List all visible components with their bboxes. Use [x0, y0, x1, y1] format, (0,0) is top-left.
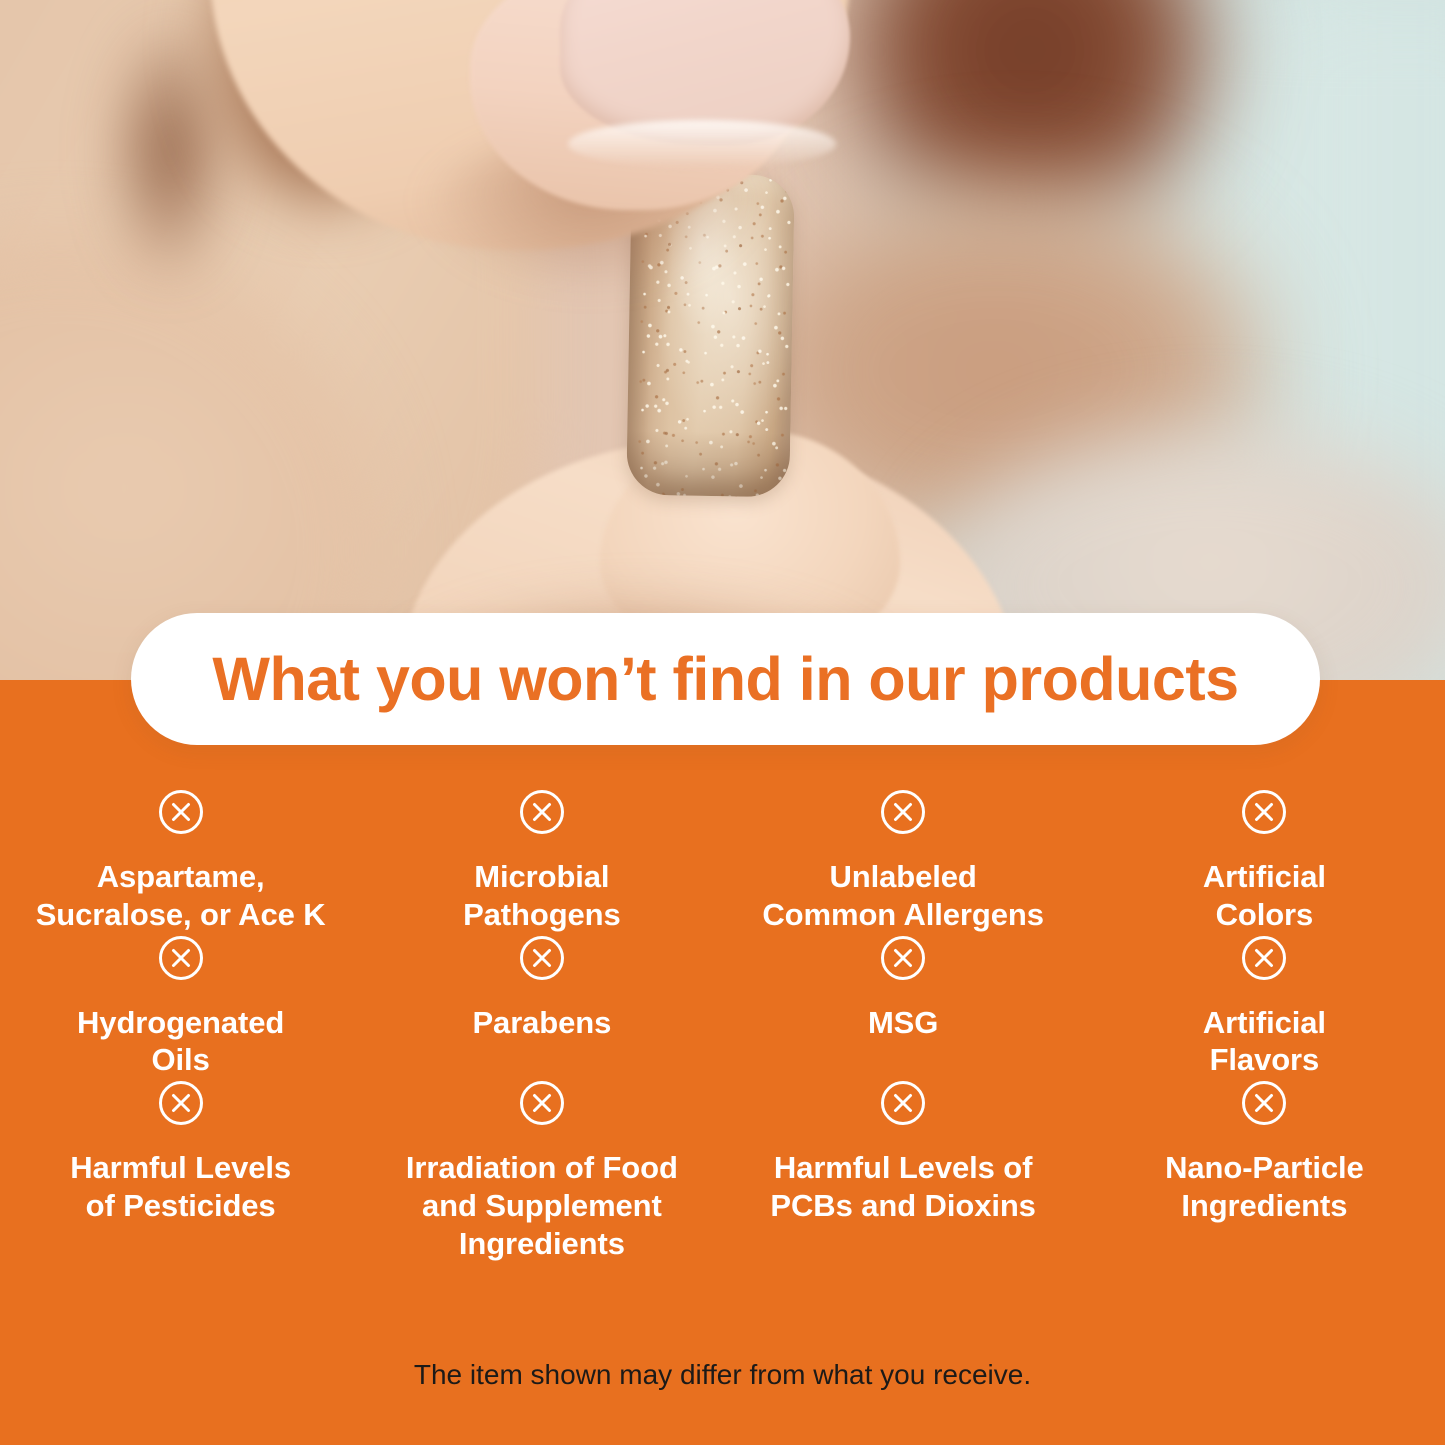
x-circle-icon: [1240, 1079, 1288, 1127]
x-circle-icon: [157, 934, 205, 982]
grid-item: MicrobialPathogens: [361, 788, 722, 934]
headline-card: What you won’t find in our products: [131, 613, 1320, 745]
headline-text-after: find in our products: [656, 645, 1239, 713]
x-circle-icon: [879, 788, 927, 836]
grid-item: Harmful Levelsof Pesticides: [0, 1079, 361, 1262]
disclaimer-text: The item shown may differ from what you …: [414, 1358, 1031, 1392]
product-photo: [0, 0, 1445, 700]
grid-item-label: MSG: [868, 1004, 938, 1042]
headline-text-emphasis: won’t: [499, 645, 656, 713]
grid-item-label: ArtificialFlavors: [1203, 1004, 1326, 1080]
grid-item-label: ArtificialColors: [1203, 858, 1326, 934]
x-circle-icon: [879, 934, 927, 982]
thumbnail-edge: [568, 120, 836, 168]
grid-item: ArtificialColors: [1084, 788, 1445, 934]
x-circle-icon: [518, 788, 566, 836]
grid-item: Irradiation of Foodand SupplementIngredi…: [361, 1079, 722, 1262]
grid-item: UnlabeledCommon Allergens: [723, 788, 1084, 934]
x-circle-icon: [518, 934, 566, 982]
grid-item: MSG: [723, 934, 1084, 1080]
marketing-product-card: What you won’t find in our products Aspa…: [0, 0, 1445, 1445]
x-circle-icon: [879, 1079, 927, 1127]
grid-item-label: Irradiation of Foodand SupplementIngredi…: [406, 1149, 678, 1262]
grid-item: Harmful Levels ofPCBs and Dioxins: [723, 1079, 1084, 1262]
grid-item-label: UnlabeledCommon Allergens: [762, 858, 1043, 934]
x-circle-icon: [518, 1079, 566, 1127]
excluded-ingredients-grid: Aspartame,Sucralose, or Ace K MicrobialP…: [0, 788, 1445, 1263]
grid-item-label: Aspartame,Sucralose, or Ace K: [36, 858, 326, 934]
page-title: What you won’t find in our products: [212, 649, 1238, 710]
tablet-bottom-shading: [626, 430, 795, 497]
x-circle-icon: [1240, 788, 1288, 836]
grid-item: ArtificialFlavors: [1084, 934, 1445, 1080]
grid-item-label: HydrogenatedOils: [77, 1004, 284, 1080]
grid-item-label: MicrobialPathogens: [463, 858, 621, 934]
x-circle-icon: [157, 1079, 205, 1127]
x-circle-icon: [157, 788, 205, 836]
grid-item-label: Harmful Levelsof Pesticides: [70, 1149, 291, 1225]
grid-item-label: Harmful Levels ofPCBs and Dioxins: [770, 1149, 1035, 1225]
grid-item: Aspartame,Sucralose, or Ace K: [0, 788, 361, 934]
grid-item: Parabens: [361, 934, 722, 1080]
grid-item: Nano-ParticleIngredients: [1084, 1079, 1445, 1262]
x-circle-icon: [1240, 934, 1288, 982]
headline-text-before: What you: [212, 645, 499, 713]
footer: The item shown may differ from what you …: [0, 1358, 1445, 1392]
grid-item-label: Nano-ParticleIngredients: [1165, 1149, 1364, 1225]
grid-item-label: Parabens: [472, 1004, 611, 1042]
grid-item: HydrogenatedOils: [0, 934, 361, 1080]
